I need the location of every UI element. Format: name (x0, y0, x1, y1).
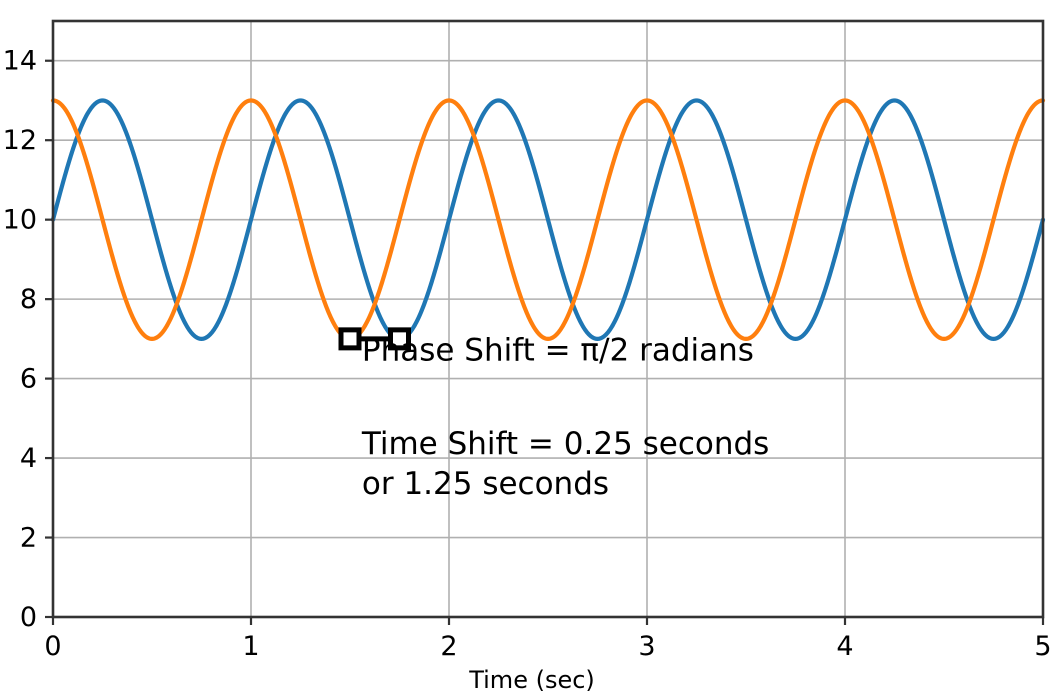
x-tick-label: 0 (44, 631, 61, 662)
y-tick-label: 4 (20, 443, 37, 474)
y-tick-label: 0 (20, 602, 37, 633)
chart-annotations: Phase Shift = π/2 radiansTime Shift = 0.… (341, 330, 769, 502)
time-shift-annotation-line1: Time Shift = 0.25 seconds (361, 426, 769, 462)
x-tick-label: 2 (440, 631, 457, 662)
axes-spines (53, 21, 1043, 617)
time-shift-annotation-line2: or 1.25 seconds (362, 466, 609, 502)
y-tick-label: 8 (20, 284, 37, 315)
chart-plot: 02468101214012345 Phase Shift = π/2 radi… (0, 0, 1064, 698)
gridlines (53, 21, 1043, 617)
figure-canvas: 02468101214012345 Phase Shift = π/2 radi… (0, 0, 1064, 698)
x-tick-label: 3 (638, 631, 655, 662)
x-tick-label: 4 (836, 631, 853, 662)
phase-shift-marker-left (341, 330, 359, 348)
phase-shift-annotation: Phase Shift = π/2 radians (362, 333, 754, 369)
data-series-group (53, 100, 1043, 338)
y-tick-label: 10 (3, 205, 37, 236)
axes-box (53, 21, 1043, 617)
y-tick-label: 2 (20, 523, 37, 554)
y-tick-label: 6 (20, 364, 37, 395)
x-tick-label: 5 (1034, 631, 1051, 662)
y-tick-label: 14 (3, 46, 37, 77)
x-axis-title: Time (sec) (468, 666, 595, 694)
x-tick-label: 1 (242, 631, 259, 662)
y-tick-label: 12 (3, 125, 37, 156)
